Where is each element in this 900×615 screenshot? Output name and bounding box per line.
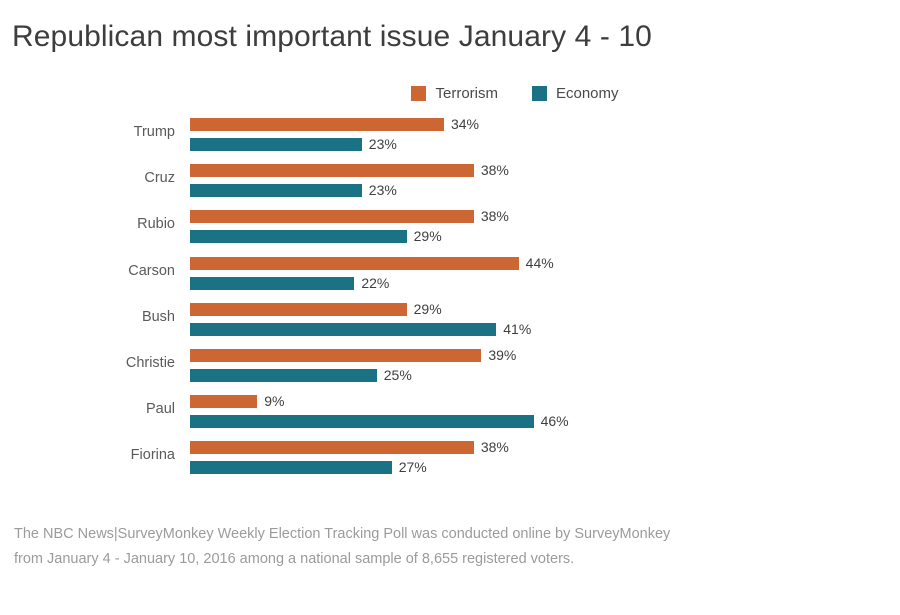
category-label-bush: Bush [0, 308, 175, 326]
bar-terrorism[interactable] [190, 303, 407, 316]
category-label-cruz: Cruz [0, 169, 175, 187]
bar-value-label: 29% [414, 303, 442, 316]
legend-item-terrorism[interactable]: Terrorism [411, 86, 498, 101]
legend-swatch-economy-icon [532, 86, 547, 101]
bar-terrorism[interactable] [190, 349, 481, 362]
bar-value-label: 9% [264, 395, 284, 408]
bar-value-label: 25% [384, 369, 412, 382]
bar-row-economy-christie[interactable]: 25% [190, 369, 412, 382]
bar-row-terrorism-paul[interactable]: 9% [190, 395, 284, 408]
chart-title: Republican most important issue January … [12, 20, 652, 54]
bar-terrorism[interactable] [190, 441, 474, 454]
bar-economy[interactable] [190, 277, 354, 290]
bar-row-economy-cruz[interactable]: 23% [190, 184, 397, 197]
bar-terrorism[interactable] [190, 118, 444, 131]
bar-economy[interactable] [190, 415, 534, 428]
legend-item-economy[interactable]: Economy [532, 86, 619, 101]
bar-row-economy-trump[interactable]: 23% [190, 138, 397, 151]
bar-terrorism[interactable] [190, 395, 257, 408]
bar-row-economy-carson[interactable]: 22% [190, 277, 389, 290]
bar-group: Paul9%46% [0, 389, 900, 429]
bar-row-terrorism-rubio[interactable]: 38% [190, 210, 509, 223]
bar-value-label: 23% [369, 184, 397, 197]
plot-area: Trump34%23%Cruz38%23%Rubio38%29%Carson44… [0, 112, 900, 492]
footnote-line-1: The NBC News|SurveyMonkey Weekly Electio… [14, 522, 874, 547]
bar-group: Christie39%25% [0, 343, 900, 383]
bar-economy[interactable] [190, 461, 392, 474]
bar-group: Rubio38%29% [0, 204, 900, 244]
bar-row-terrorism-carson[interactable]: 44% [190, 257, 554, 270]
category-label-paul: Paul [0, 400, 175, 418]
bar-row-economy-bush[interactable]: 41% [190, 323, 531, 336]
bar-row-terrorism-fiorina[interactable]: 38% [190, 441, 509, 454]
bar-value-label: 38% [481, 164, 509, 177]
bar-value-label: 22% [361, 277, 389, 290]
bar-row-economy-fiorina[interactable]: 27% [190, 461, 427, 474]
bar-value-label: 27% [399, 461, 427, 474]
bar-value-label: 38% [481, 441, 509, 454]
bar-economy[interactable] [190, 323, 496, 336]
bar-row-economy-rubio[interactable]: 29% [190, 230, 442, 243]
bar-economy[interactable] [190, 138, 362, 151]
bar-value-label: 46% [541, 415, 569, 428]
bar-economy[interactable] [190, 230, 407, 243]
bar-row-terrorism-christie[interactable]: 39% [190, 349, 516, 362]
bar-row-terrorism-cruz[interactable]: 38% [190, 164, 509, 177]
bar-value-label: 39% [488, 349, 516, 362]
category-label-rubio: Rubio [0, 215, 175, 233]
legend-swatch-terrorism-icon [411, 86, 426, 101]
bar-group: Carson44%22% [0, 251, 900, 291]
bar-value-label: 44% [526, 257, 554, 270]
bar-group: Fiorina38%27% [0, 435, 900, 475]
legend-label-economy: Economy [556, 86, 619, 101]
category-label-trump: Trump [0, 123, 175, 141]
chart-legend: Terrorism Economy [0, 86, 900, 101]
bar-row-terrorism-bush[interactable]: 29% [190, 303, 442, 316]
chart-footnote: The NBC News|SurveyMonkey Weekly Electio… [14, 522, 874, 572]
bar-economy[interactable] [190, 369, 377, 382]
bar-group: Bush29%41% [0, 297, 900, 337]
bar-value-label: 41% [503, 323, 531, 336]
bar-value-label: 38% [481, 210, 509, 223]
bar-row-terrorism-trump[interactable]: 34% [190, 118, 479, 131]
footnote-line-2: from January 4 - January 10, 2016 among … [14, 547, 874, 572]
bar-terrorism[interactable] [190, 210, 474, 223]
bar-value-label: 34% [451, 118, 479, 131]
category-label-carson: Carson [0, 262, 175, 280]
bar-terrorism[interactable] [190, 164, 474, 177]
bar-value-label: 23% [369, 138, 397, 151]
bar-group: Cruz38%23% [0, 158, 900, 198]
category-label-christie: Christie [0, 354, 175, 372]
bar-group: Trump34%23% [0, 112, 900, 152]
bar-value-label: 29% [414, 230, 442, 243]
chart-container: Republican most important issue January … [0, 0, 900, 615]
bar-terrorism[interactable] [190, 257, 519, 270]
legend-label-terrorism: Terrorism [435, 86, 498, 101]
bar-row-economy-paul[interactable]: 46% [190, 415, 569, 428]
bar-economy[interactable] [190, 184, 362, 197]
category-label-fiorina: Fiorina [0, 446, 175, 464]
